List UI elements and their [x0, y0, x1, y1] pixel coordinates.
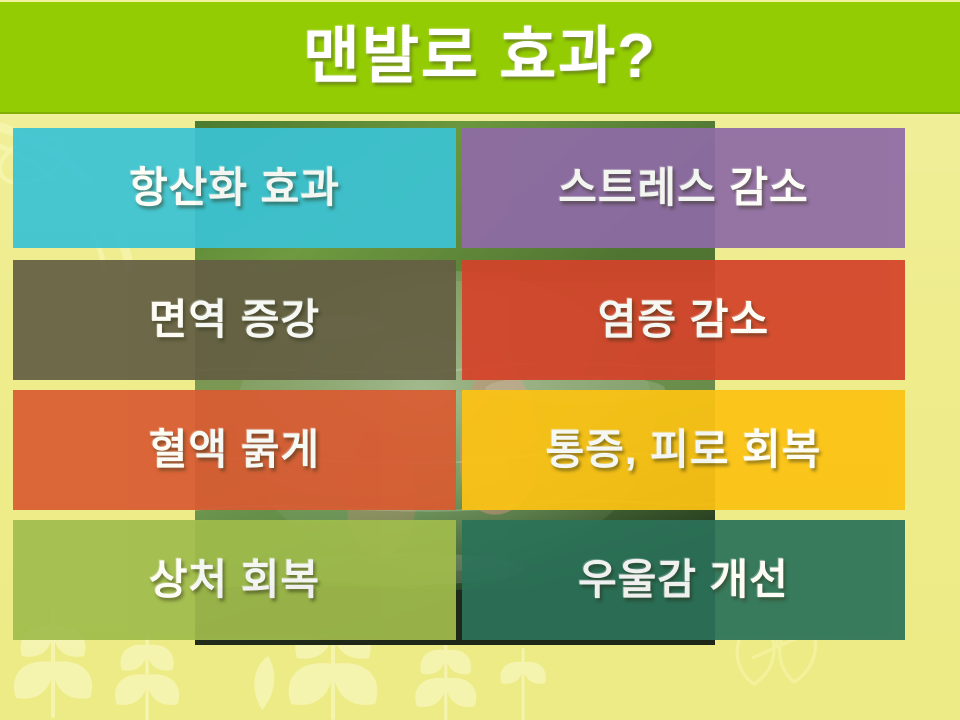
- slide-title-bar: 맨발로 효과?: [0, 2, 960, 114]
- benefit-tile-wound-healing[interactable]: 상처 회복: [13, 520, 456, 640]
- benefit-tile-blood-thinning[interactable]: 혈액 묽게: [13, 390, 456, 510]
- benefit-tile-label: 염증 감소: [598, 299, 769, 341]
- benefit-tile-label: 항산화 효과: [129, 167, 340, 209]
- slide-canvas: 맨발로 효과? 항산화 효과 스트레스 감소 면역 증강 염증 감소 혈액 묽게…: [0, 0, 960, 720]
- benefit-grid: 항산화 효과 스트레스 감소 면역 증강 염증 감소 혈액 묽게 통증, 피로 …: [13, 128, 947, 644]
- benefit-tile-immunity-boost[interactable]: 면역 증강: [13, 260, 456, 380]
- benefit-tile-label: 통증, 피로 회복: [546, 429, 822, 471]
- benefit-tile-pain-fatigue-recovery[interactable]: 통증, 피로 회복: [462, 390, 905, 510]
- benefit-tile-label: 우울감 개선: [578, 559, 789, 601]
- benefit-tile-label: 스트레스 감소: [558, 167, 809, 209]
- benefit-tile-antioxidant[interactable]: 항산화 효과: [13, 128, 456, 248]
- benefit-tile-label: 혈액 묽게: [149, 429, 320, 471]
- benefit-tile-inflammation-reduction[interactable]: 염증 감소: [462, 260, 905, 380]
- slide-title: 맨발로 효과?: [303, 26, 657, 88]
- benefit-tile-depression-improvement[interactable]: 우울감 개선: [462, 520, 905, 640]
- benefit-tile-stress-reduction[interactable]: 스트레스 감소: [462, 128, 905, 248]
- benefit-tile-label: 상처 회복: [149, 559, 320, 601]
- benefit-tile-label: 면역 증강: [149, 299, 320, 341]
